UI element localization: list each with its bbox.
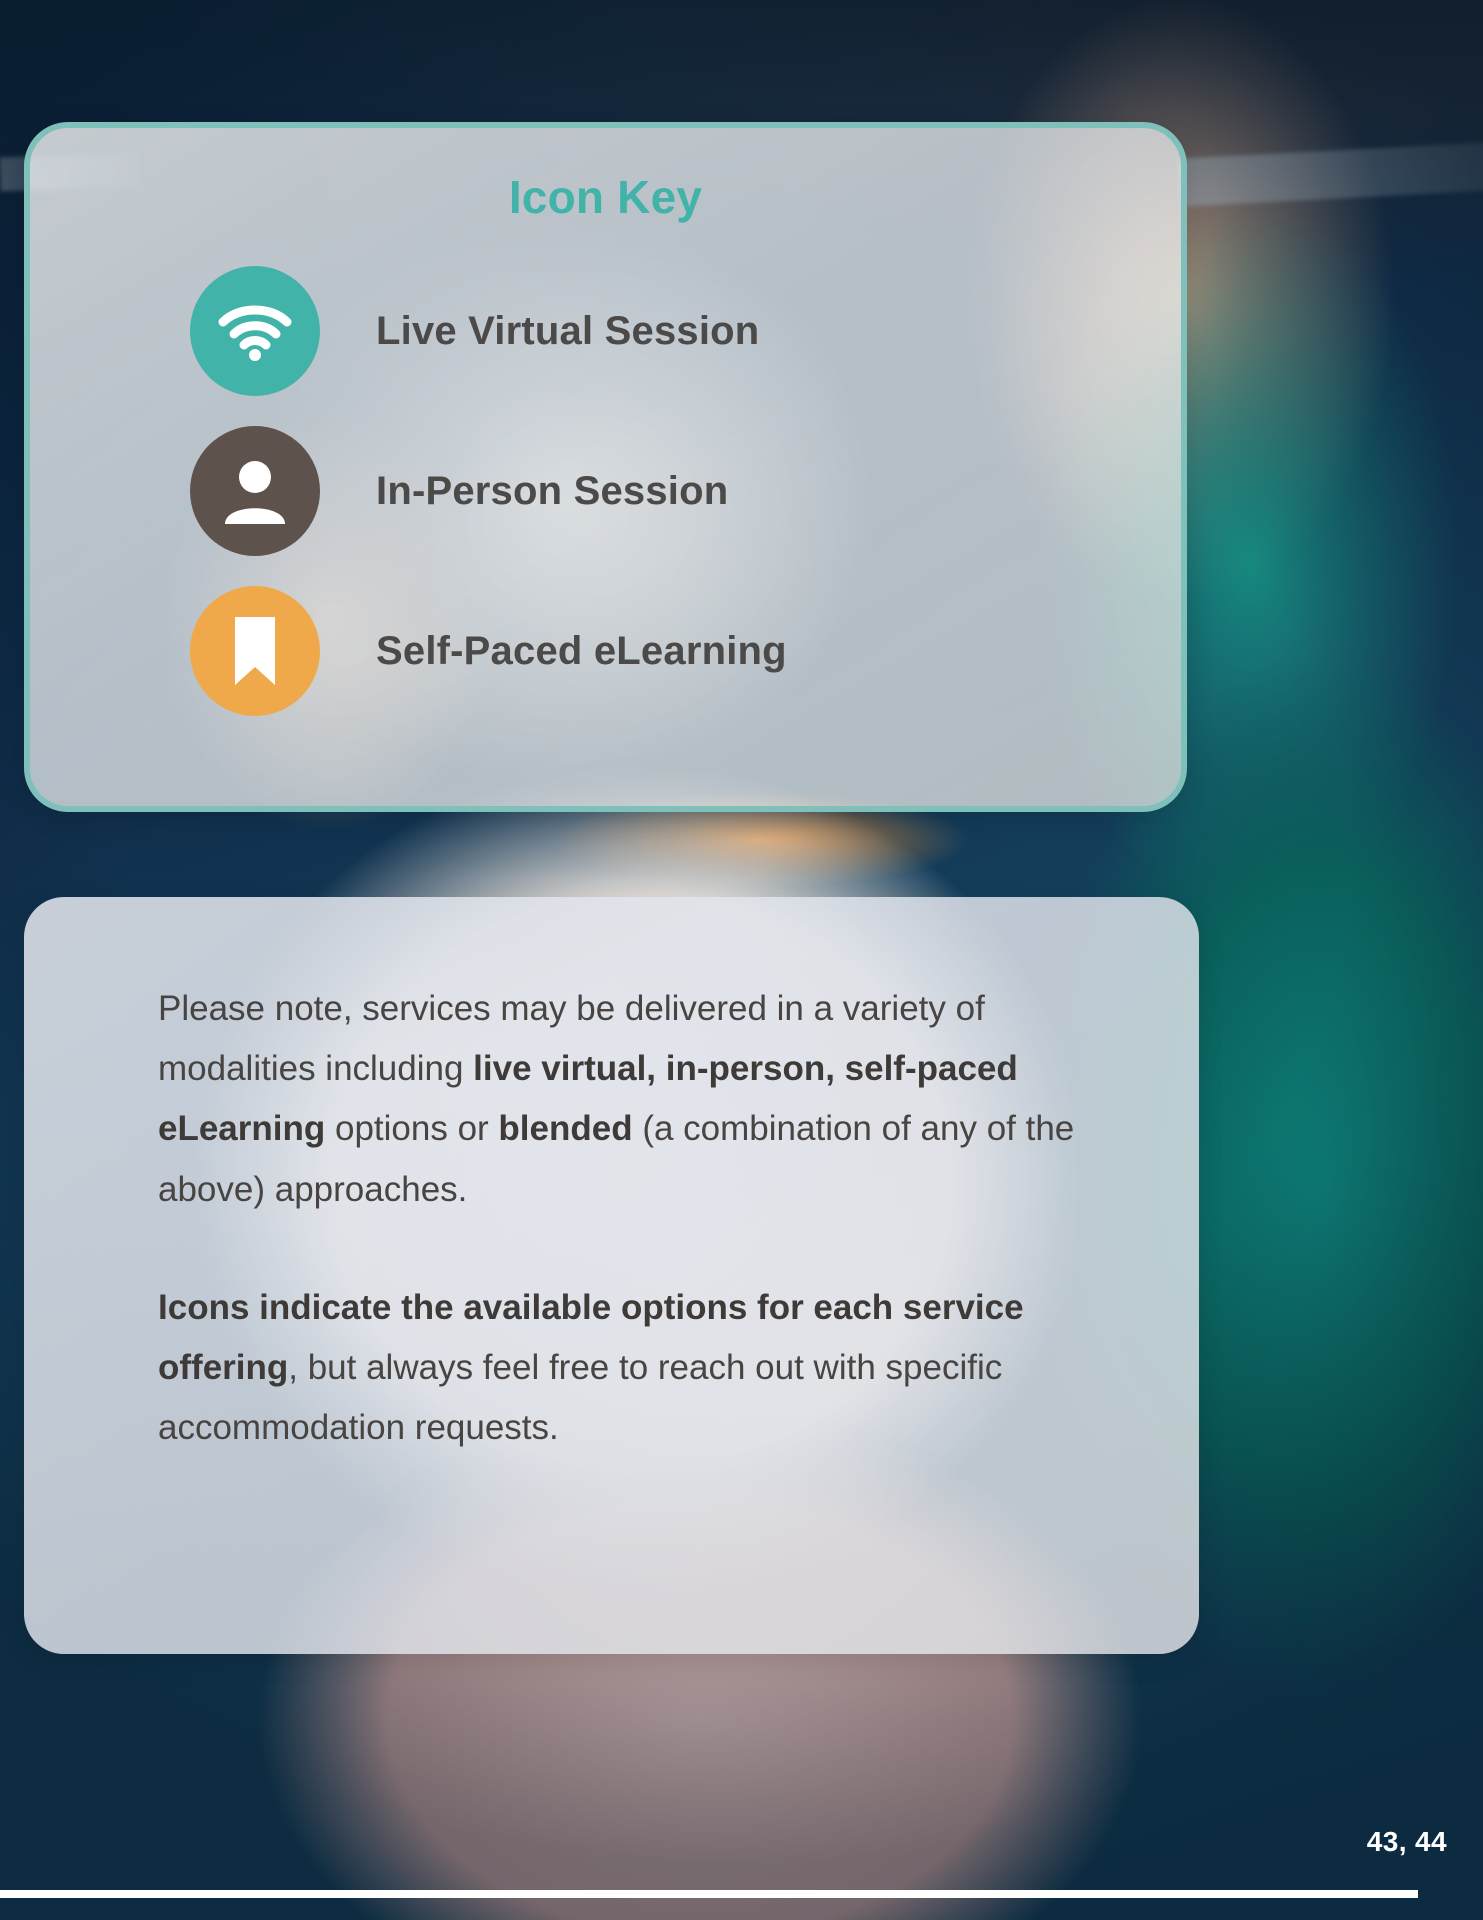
note-p1-text2: options or xyxy=(325,1109,498,1148)
icon-key-label-self-paced: Self-Paced eLearning xyxy=(376,629,787,674)
note-paragraph-2: Icons indicate the available options for… xyxy=(158,1278,1081,1459)
note-card: Please note, services may be delivered i… xyxy=(24,897,1199,1654)
icon-key-card: Icon Key Live Virtual Session In-Person … xyxy=(24,122,1187,812)
note-p1-bold2: blended xyxy=(498,1109,632,1148)
icon-key-title: Icon Key xyxy=(30,170,1181,224)
wifi-icon xyxy=(190,266,320,396)
person-icon xyxy=(190,426,320,556)
icon-key-row-live-virtual: Live Virtual Session xyxy=(30,266,1181,396)
icon-key-label-in-person: In-Person Session xyxy=(376,469,728,514)
bookmark-icon xyxy=(190,586,320,716)
icon-key-row-in-person: In-Person Session xyxy=(30,426,1181,556)
note-paragraph-1: Please note, services may be delivered i… xyxy=(158,979,1081,1220)
icon-key-label-live-virtual: Live Virtual Session xyxy=(376,309,759,354)
footer-rule xyxy=(0,1890,1418,1898)
icon-key-row-self-paced: Self-Paced eLearning xyxy=(30,586,1181,716)
page-number: 43, 44 xyxy=(1367,1826,1447,1858)
